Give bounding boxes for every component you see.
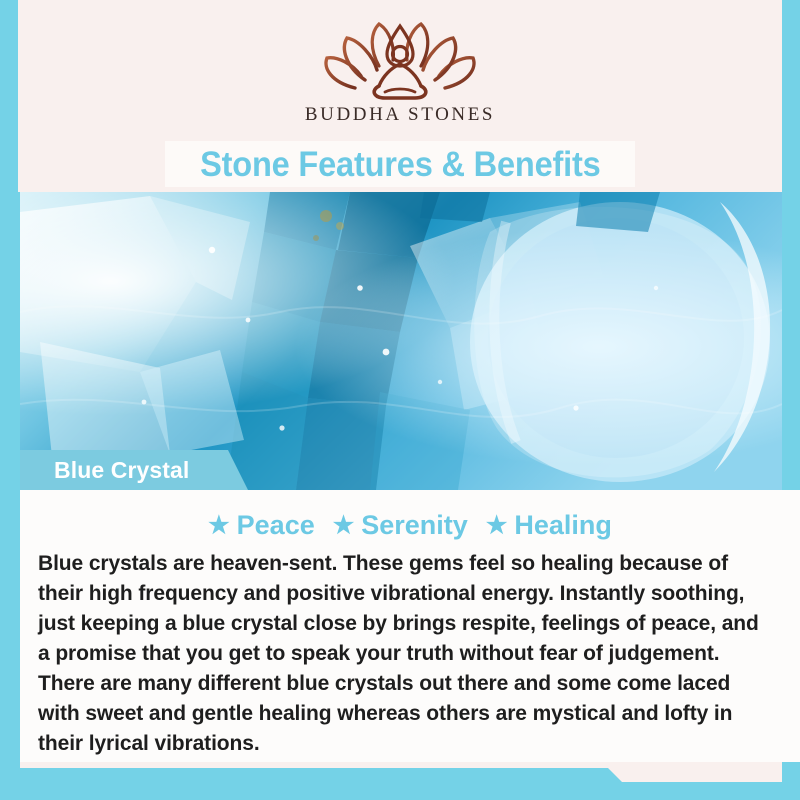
- star-icon: ★: [333, 514, 355, 538]
- keyword-serenity-label: Serenity: [361, 510, 468, 541]
- brand-logo: BUDDHA STONES: [18, 18, 782, 126]
- star-icon: ★: [208, 514, 230, 538]
- lotus-meditation-figure-icon: [315, 18, 485, 102]
- keyword-peace-label: Peace: [237, 510, 315, 541]
- title-banner: Stone Features & Benefits: [165, 141, 635, 187]
- crystal-photo-art: [20, 192, 782, 490]
- description-paragraph-1: Blue crystals are heaven-sent. These gem…: [38, 549, 776, 669]
- content-section: ★ Peace ★ Serenity ★ Healing Blue crysta…: [20, 490, 800, 762]
- description-text: Blue crystals are heaven-sent. These gem…: [38, 549, 776, 759]
- keyword-healing-label: Healing: [514, 510, 612, 541]
- blue-crystal-photo: [20, 192, 782, 490]
- description-paragraph-2: There are many different blue crystals o…: [38, 669, 776, 759]
- keyword-healing: ★ Healing: [486, 510, 612, 541]
- star-icon: ★: [486, 514, 508, 538]
- page-title: Stone Features & Benefits: [200, 147, 601, 182]
- keywords-row: ★ Peace ★ Serenity ★ Healing: [20, 490, 800, 541]
- poster-root: BUDDHA STONES Stone Features & Benefits: [0, 0, 800, 800]
- stone-name-label: Blue Crystal: [54, 457, 189, 484]
- brand-name: BUDDHA STONES: [305, 104, 495, 126]
- keyword-serenity: ★ Serenity: [333, 510, 468, 541]
- keyword-peace: ★ Peace: [208, 510, 315, 541]
- left-blue-frame-edge: [0, 192, 20, 800]
- stone-name-badge: Blue Crystal: [20, 450, 248, 490]
